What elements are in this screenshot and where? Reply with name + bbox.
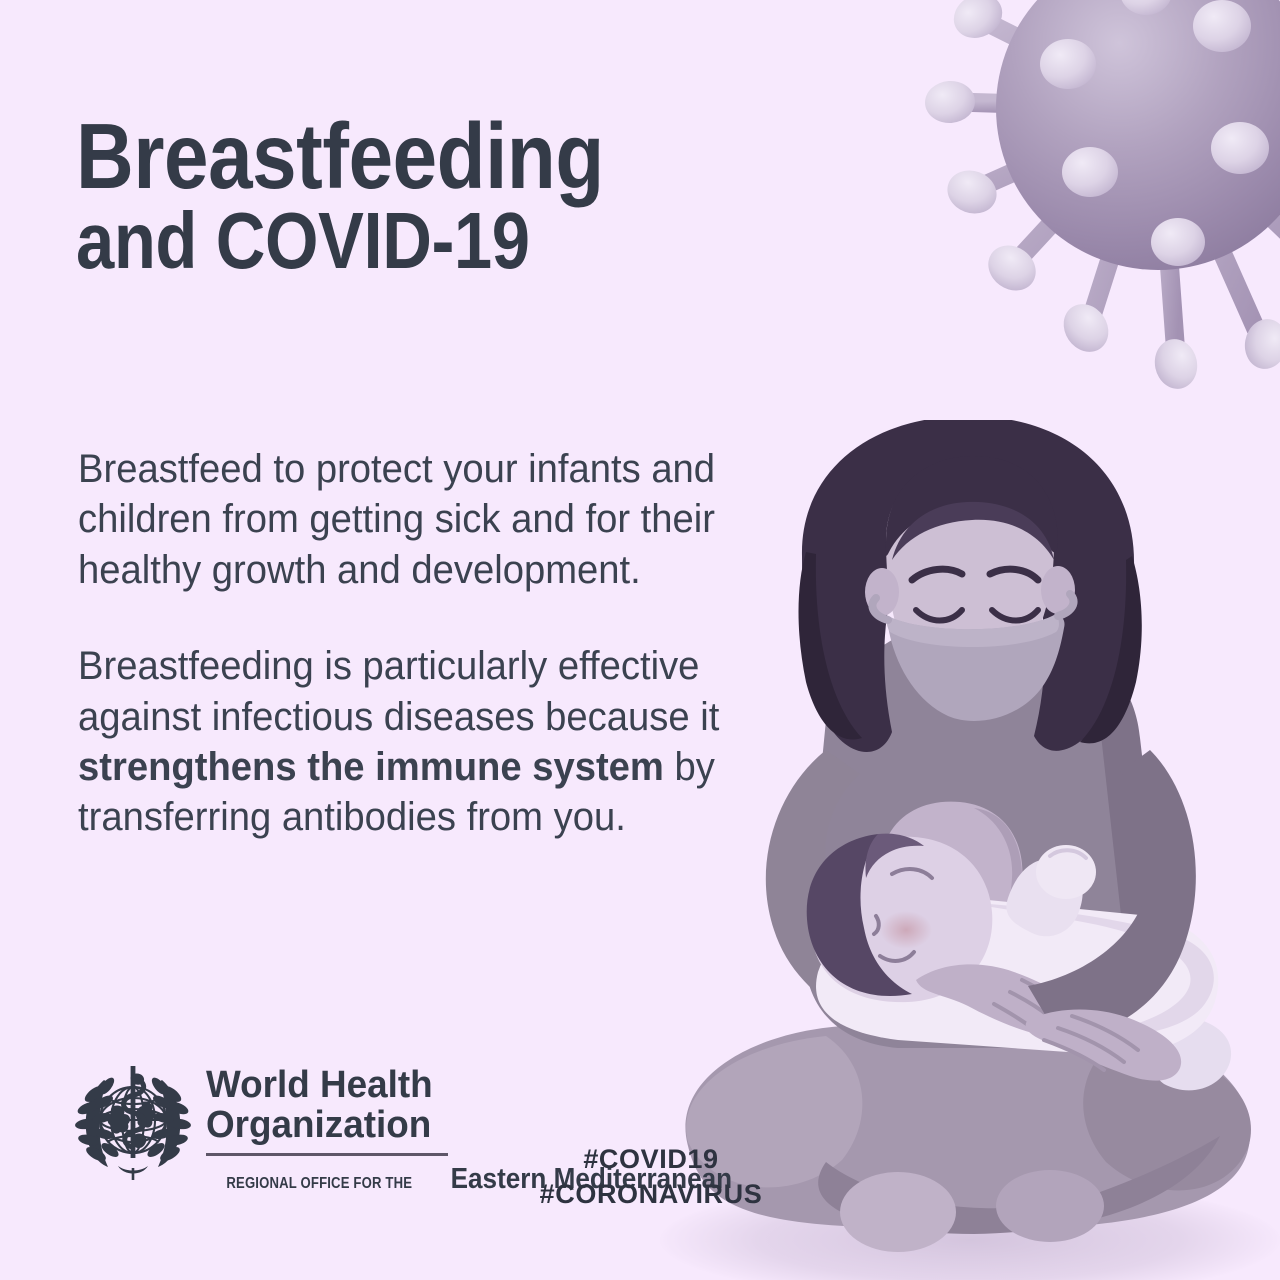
paragraph-1: Breastfeed to protect your infants and c…	[78, 444, 785, 595]
coronavirus-particle-illustration	[920, 0, 1280, 410]
title-line-1: Breastfeeding	[76, 112, 678, 201]
paragraph-2: Breastfeeding is particularly effective …	[78, 641, 785, 843]
title-line-2: and COVID-19	[76, 203, 678, 280]
paragraph-2-emphasis: strengthens the immune system	[78, 745, 664, 789]
poster-canvas: Breastfeeding and COVID-19 Breastfeed to…	[0, 0, 1280, 1280]
hashtag-coronavirus: #CORONAVIRUS	[508, 1177, 794, 1212]
who-name-line-1: World Health	[206, 1066, 731, 1106]
who-emblem-icon	[74, 1062, 192, 1184]
who-name-line-2: Organization	[206, 1106, 731, 1146]
paragraph-2-text-before: Breastfeeding is particularly effective …	[78, 644, 719, 738]
who-divider	[206, 1153, 448, 1156]
page-title: Breastfeeding and COVID-19	[76, 112, 776, 280]
who-region-prefix: REGIONAL OFFICE FOR THE	[226, 1175, 412, 1193]
hashtag-covid19: #COVID19	[508, 1142, 794, 1177]
hashtag-block: #COVID19 #CORONAVIRUS	[508, 1142, 794, 1211]
body-copy: Breastfeed to protect your infants and c…	[78, 404, 818, 883]
